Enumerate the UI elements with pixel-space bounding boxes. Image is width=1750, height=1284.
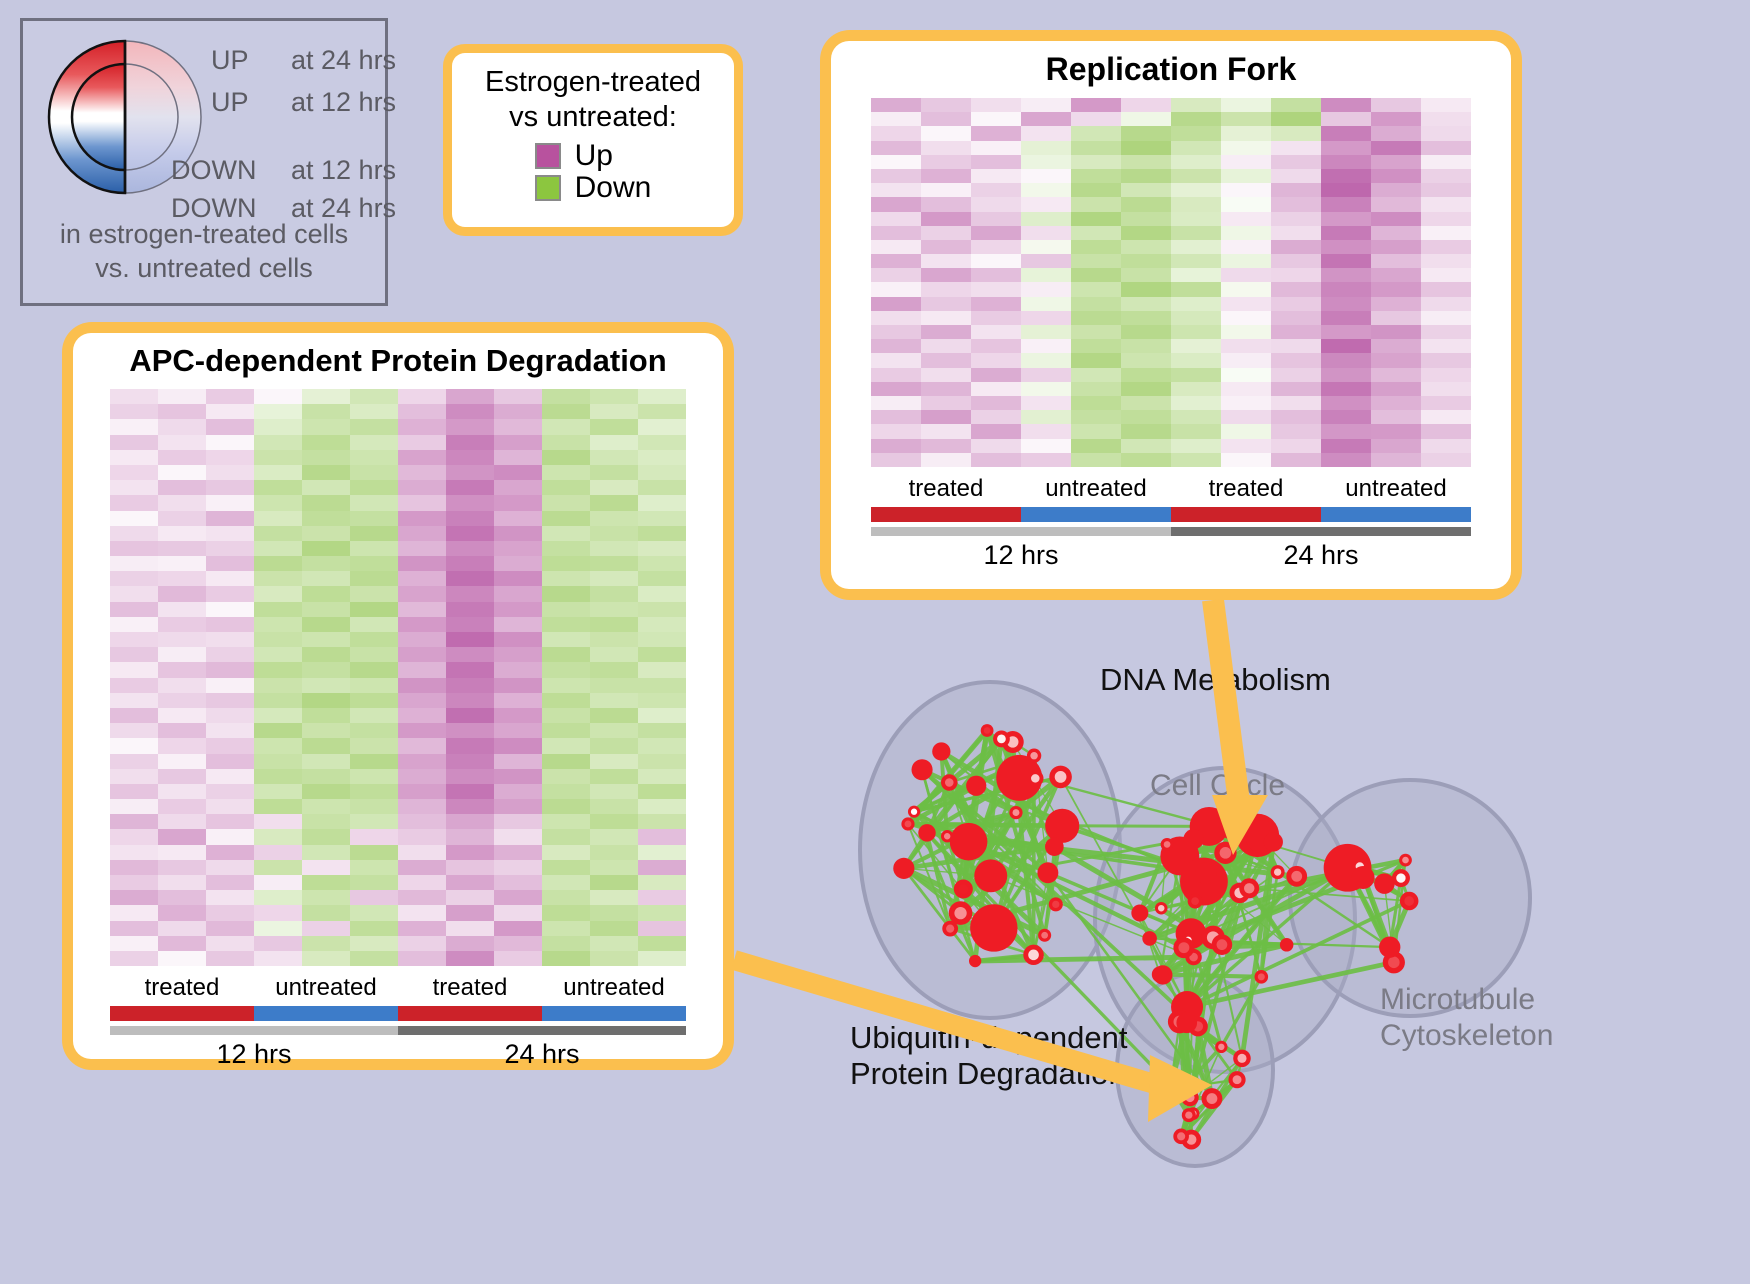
heatmap-cell	[1221, 282, 1271, 296]
heatmap-cell	[350, 738, 398, 753]
heatmap-cell	[1171, 254, 1221, 268]
heatmap-cell	[1021, 141, 1071, 155]
heatmap-cell	[971, 282, 1021, 296]
heatmap-cell	[1421, 424, 1471, 438]
heatmap-cell	[542, 404, 590, 419]
heatmap-cell	[638, 921, 686, 936]
heatmap-cell	[971, 169, 1021, 183]
heatmap-cell	[494, 860, 542, 875]
heatmap-cell	[206, 860, 254, 875]
heatmap-cell	[542, 495, 590, 510]
heatmap-cell	[350, 890, 398, 905]
heatmap-cell	[398, 738, 446, 753]
heatmap-cell	[446, 465, 494, 480]
heatmap-cell	[398, 586, 446, 601]
column-group-label: treated	[871, 475, 1021, 503]
heatmap-cell	[1021, 282, 1071, 296]
heatmap-cell	[398, 860, 446, 875]
heatmap-cell	[638, 632, 686, 647]
heatmap-cell	[1421, 254, 1471, 268]
network-node	[1379, 936, 1400, 957]
heatmap-cell	[158, 829, 206, 844]
heatmap-cell	[1371, 98, 1421, 112]
heatmap-cell	[971, 311, 1021, 325]
heatmap-cell	[158, 905, 206, 920]
heatmap-cell	[1071, 197, 1121, 211]
heatmap-cell	[302, 784, 350, 799]
heatmap-cell	[158, 693, 206, 708]
treatment-colour-segment	[871, 507, 1021, 522]
network-node	[970, 904, 1017, 951]
heatmap-cell	[446, 799, 494, 814]
heatmap-cell	[446, 890, 494, 905]
network-node-core	[1244, 883, 1254, 893]
heatmap-cell	[446, 693, 494, 708]
heatmap-cell	[921, 197, 971, 211]
heatmap-cell	[494, 678, 542, 693]
heatmap-cell	[350, 541, 398, 556]
heatmap-cell	[871, 197, 921, 211]
heatmap-cell	[206, 951, 254, 966]
heatmap-cell	[158, 435, 206, 450]
heatmap-cell	[446, 495, 494, 510]
heatmap-cell	[1071, 268, 1121, 282]
heatmap-cell	[1071, 112, 1121, 126]
column-group-label: treated	[1171, 475, 1321, 503]
heatmap-cell	[350, 647, 398, 662]
heatmap-cell	[638, 435, 686, 450]
heatmap-cell	[638, 617, 686, 632]
heatmap-cell	[1071, 155, 1121, 169]
heatmap-cell	[254, 586, 302, 601]
heatmap-cell	[1021, 325, 1071, 339]
network-node	[912, 759, 933, 780]
heatmap-cell	[446, 921, 494, 936]
heatmap-cell	[158, 632, 206, 647]
heatmap-cell	[110, 829, 158, 844]
heatmap-cell	[494, 905, 542, 920]
heatmap-cell	[921, 183, 971, 197]
heatmap-cell	[302, 845, 350, 860]
heatmap-cell	[921, 240, 971, 254]
heatmap-cell	[398, 754, 446, 769]
heatmap-cell	[206, 754, 254, 769]
heatmap-cell	[1271, 311, 1321, 325]
heatmap-cell	[590, 890, 638, 905]
network-node-core	[958, 884, 968, 894]
network-edge	[1160, 974, 1261, 976]
heatmap-cell	[254, 602, 302, 617]
heatmap-cell	[254, 526, 302, 541]
heatmap-cell	[1021, 410, 1071, 424]
heatmap-cell	[590, 951, 638, 966]
heatmap-cell	[971, 396, 1021, 410]
heatmap-cell	[110, 678, 158, 693]
heatmap-cell	[302, 419, 350, 434]
heatmap-cell	[350, 769, 398, 784]
heatmap-cell	[638, 738, 686, 753]
heatmap-cell	[542, 905, 590, 920]
heatmap-cell	[971, 254, 1021, 268]
heatmap-cell	[1021, 126, 1071, 140]
network-node-core	[1388, 957, 1400, 969]
heatmap-cell	[1021, 226, 1071, 240]
heatmap-cell	[1221, 453, 1271, 467]
heatmap-cell	[1371, 169, 1421, 183]
network-node	[918, 824, 935, 841]
heatmap-cell	[350, 678, 398, 693]
heatmap-cell	[1071, 126, 1121, 140]
heatmap-cell	[1171, 353, 1221, 367]
heatmap-cell	[302, 647, 350, 662]
heatmap-cell	[446, 769, 494, 784]
heatmap-cell	[350, 435, 398, 450]
heatmap-cell	[1221, 169, 1271, 183]
heatmap-cell	[971, 297, 1021, 311]
heatmap-cell	[1271, 169, 1321, 183]
heatmap-cell	[638, 799, 686, 814]
heatmap-cell	[542, 845, 590, 860]
heatmap-cell	[110, 404, 158, 419]
heatmap-cell	[1271, 226, 1321, 240]
heatmap-cell	[542, 450, 590, 465]
heatmap-cell	[254, 617, 302, 632]
heatmap-cell	[1321, 453, 1371, 467]
heatmap-cell	[921, 254, 971, 268]
heatmap-cell	[206, 389, 254, 404]
heatmap-cell	[398, 905, 446, 920]
heatmap-cell	[921, 169, 971, 183]
wheel-footer-line1: in estrogen-treated cells	[23, 217, 385, 251]
heatmap-cell	[110, 586, 158, 601]
heatmap-cell	[1171, 197, 1221, 211]
heatmap-cell	[638, 602, 686, 617]
heatmap-cell	[494, 662, 542, 677]
heatmap-cell	[638, 419, 686, 434]
heatmap-cell	[110, 435, 158, 450]
heatmap-cell	[638, 511, 686, 526]
heatmap-cell	[158, 678, 206, 693]
heatmap-cell	[1321, 410, 1371, 424]
heatmap-cell	[1371, 410, 1421, 424]
network-node-core	[1028, 950, 1039, 961]
column-group-label: untreated	[254, 974, 398, 1002]
heatmap-cell	[590, 784, 638, 799]
heatmap-cell	[350, 951, 398, 966]
heatmap-cell	[1071, 410, 1121, 424]
heatmap-cell	[590, 723, 638, 738]
heatmap-cell	[1321, 126, 1371, 140]
network-node	[966, 776, 986, 796]
heatmap-cell	[590, 526, 638, 541]
heatmap-cell	[1221, 268, 1271, 282]
heatmap-cell	[446, 754, 494, 769]
heatmap-cell	[110, 951, 158, 966]
heatmap-cell	[446, 404, 494, 419]
timepoint-colour-segment	[1171, 527, 1471, 536]
heatmap-cell	[398, 556, 446, 571]
heatmap-cell	[921, 98, 971, 112]
heatmap-cell	[1321, 353, 1371, 367]
heatmap-cell	[638, 860, 686, 875]
heatmap-cell	[302, 480, 350, 495]
heatmap-cell	[1171, 169, 1221, 183]
heatmap-cell	[446, 647, 494, 662]
heatmap-cell	[398, 708, 446, 723]
heatmap-cell	[158, 602, 206, 617]
heatmap-cell	[590, 875, 638, 890]
heatmap-cell	[1421, 197, 1471, 211]
heatmap-cell	[1421, 453, 1471, 467]
network-node-core	[1220, 847, 1232, 859]
heatmap-cell	[542, 586, 590, 601]
heatmap-cell	[1271, 297, 1321, 311]
network-node	[932, 742, 950, 760]
heatmap-cell	[398, 845, 446, 860]
heatmap-cell	[1071, 325, 1121, 339]
heatmap-cell	[1071, 339, 1121, 353]
heatmap-cell	[1121, 339, 1171, 353]
heatmap-cell	[1021, 98, 1071, 112]
heatmap-cell	[1371, 126, 1421, 140]
heatmap-cell	[638, 678, 686, 693]
wheel-row-0-label: UP	[211, 45, 249, 76]
heatmap-cell	[871, 212, 921, 226]
heatmap-cell	[871, 453, 921, 467]
heatmap-cell	[206, 769, 254, 784]
network-node-core	[1206, 1093, 1217, 1104]
heatmap-cell	[1321, 197, 1371, 211]
network-node	[974, 859, 1007, 892]
heatmap-cell	[1171, 453, 1221, 467]
heatmap-cell	[638, 526, 686, 541]
heatmap-cell	[542, 708, 590, 723]
heatmap-cell	[590, 617, 638, 632]
heatmap-cell	[1271, 141, 1321, 155]
heatmap-cell	[254, 769, 302, 784]
network-node-core	[1217, 939, 1228, 950]
heatmap-cell	[871, 98, 921, 112]
legend-item-down: Down	[535, 173, 652, 203]
heatmap-cell	[110, 495, 158, 510]
heatmap-cell	[302, 754, 350, 769]
heatmap-cell	[494, 723, 542, 738]
heatmap-cell	[110, 465, 158, 480]
heatmap-cell	[254, 708, 302, 723]
heatmap-cell	[1421, 126, 1471, 140]
heatmap-cell	[971, 240, 1021, 254]
heatmap-cell	[302, 632, 350, 647]
heatmap-cell	[110, 738, 158, 753]
heatmap-cell	[1271, 353, 1321, 367]
heatmap-cell	[1371, 311, 1421, 325]
heatmap-cell	[398, 526, 446, 541]
heatmap-cell	[494, 829, 542, 844]
heatmap-cell	[1221, 410, 1271, 424]
heatmap-cell	[1121, 98, 1171, 112]
heatmap-cell	[542, 526, 590, 541]
heatmap-cell	[254, 799, 302, 814]
heatmap-cell	[542, 723, 590, 738]
heatmap-cell	[158, 511, 206, 526]
heatmap-cell	[1071, 453, 1121, 467]
treatment-colour-segment	[1321, 507, 1471, 522]
heatmap-cell	[254, 495, 302, 510]
heatmap-cell	[590, 647, 638, 662]
heatmap-cell	[494, 450, 542, 465]
heatmap-cell	[921, 112, 971, 126]
heatmap-cell	[542, 617, 590, 632]
heatmap-cell	[871, 439, 921, 453]
heatmap-cell	[350, 829, 398, 844]
heatmap-cell	[1371, 424, 1421, 438]
heatmap-cell	[158, 784, 206, 799]
heatmap-cell	[158, 450, 206, 465]
heatmap-cell	[206, 556, 254, 571]
heatmap-cell	[494, 769, 542, 784]
heatmap-cell	[110, 860, 158, 875]
legend-label-down: Down	[575, 173, 652, 203]
heatmap-cell	[921, 325, 971, 339]
heatmap-cell	[494, 814, 542, 829]
network-node-core	[1237, 1054, 1246, 1063]
column-group-label: untreated	[1321, 475, 1471, 503]
heatmap-cell	[1171, 368, 1221, 382]
heatmap-cell	[971, 410, 1021, 424]
heatmap-cell	[1171, 282, 1221, 296]
wheel-row-2-label: DOWN	[171, 155, 256, 186]
heatmap-cell	[1121, 453, 1171, 467]
heatmap-cell	[254, 951, 302, 966]
wheel-row-1-time: at 12 hrs	[291, 87, 396, 118]
timepoint-colour-segment	[110, 1026, 398, 1035]
heatmap-cell	[398, 921, 446, 936]
heatmap-cell	[350, 419, 398, 434]
heatmap-cell	[590, 556, 638, 571]
heatmap-cell	[110, 784, 158, 799]
heatmap-cell	[1121, 254, 1171, 268]
heatmap-cell	[398, 799, 446, 814]
column-group-label: treated	[398, 974, 542, 1002]
heatmap-cell	[638, 754, 686, 769]
heatmap-cell	[302, 495, 350, 510]
heatmap-cell	[350, 586, 398, 601]
heatmap-cell	[542, 936, 590, 951]
heatmap-cell	[350, 556, 398, 571]
heatmap-cell	[1271, 254, 1321, 268]
heatmap-cell	[158, 389, 206, 404]
heatmap-cell	[350, 632, 398, 647]
heatmap-cell	[302, 890, 350, 905]
heatmap-cell	[1021, 112, 1071, 126]
heatmap-cell	[971, 141, 1021, 155]
heatmap-cell	[921, 297, 971, 311]
network-node-core	[997, 735, 1006, 744]
heatmap-cell	[1021, 339, 1071, 353]
up-colour-swatch	[535, 143, 561, 169]
heatmap-cell	[638, 890, 686, 905]
heatmap-cell	[1271, 98, 1321, 112]
heatmap-cell	[921, 155, 971, 169]
heatmap-cell	[398, 829, 446, 844]
heatmap-cell	[1321, 98, 1371, 112]
heatmap-cell	[254, 723, 302, 738]
heatmap-cell	[1021, 297, 1071, 311]
heatmap-cell	[110, 556, 158, 571]
heatmap-cell	[1071, 382, 1121, 396]
heatmap-cell	[158, 480, 206, 495]
heatmap-cell	[158, 921, 206, 936]
heatmap-cell	[110, 647, 158, 662]
heatmap-cell	[254, 556, 302, 571]
heatmap-cell	[302, 404, 350, 419]
heatmap-cell	[1221, 297, 1271, 311]
heatmap-cell	[1421, 311, 1471, 325]
heatmap-cell	[542, 875, 590, 890]
heatmap-cell	[1071, 282, 1121, 296]
heatmap-cell	[871, 155, 921, 169]
heatmap-cell	[446, 617, 494, 632]
network-node	[1352, 866, 1375, 889]
legend-label-up: Up	[575, 141, 613, 171]
heatmap-cell	[254, 845, 302, 860]
heatmap-cell	[921, 396, 971, 410]
heatmap-cell	[446, 708, 494, 723]
heatmap-cell	[110, 526, 158, 541]
heatmap-cell	[1121, 353, 1171, 367]
heatmap-cell	[254, 936, 302, 951]
heatmap-cell	[542, 541, 590, 556]
heatmap-cell	[590, 678, 638, 693]
heatmap-cell	[1221, 98, 1271, 112]
figure-canvas: UP at 24 hrs UP at 12 hrs DOWN at 12 hrs…	[0, 0, 1750, 1279]
heatmap-cell	[1371, 226, 1421, 240]
heatmap-cell	[638, 784, 686, 799]
heatmap-cell	[871, 396, 921, 410]
heatmap-cell	[110, 632, 158, 647]
heatmap-cell	[158, 419, 206, 434]
heatmap-cell	[1071, 396, 1121, 410]
heatmap-cell	[1121, 396, 1171, 410]
heatmap-cell	[1321, 268, 1371, 282]
heatmap-cell	[350, 921, 398, 936]
heatmap-cell	[1421, 155, 1471, 169]
heatmap-cell	[254, 875, 302, 890]
heatmap-cell	[302, 389, 350, 404]
network-node	[1037, 862, 1058, 883]
heatmap-cell	[1071, 297, 1121, 311]
legend-item-up: Up	[535, 141, 652, 171]
network-node-core	[1218, 1044, 1224, 1050]
network-node-core	[1402, 857, 1409, 864]
network-node-core	[1191, 897, 1199, 905]
heatmap-cell	[590, 571, 638, 586]
heatmap-cell	[446, 829, 494, 844]
heatmap-cell	[1321, 282, 1371, 296]
network-node	[1045, 809, 1079, 843]
timepoint-colour-segment	[871, 527, 1171, 536]
network-graph	[795, 620, 1750, 1279]
heatmap-cell	[638, 769, 686, 784]
heatmap-cell	[971, 197, 1021, 211]
heatmap-cell	[1221, 368, 1271, 382]
heatmap-cell	[1421, 141, 1471, 155]
heatmap-cell	[158, 526, 206, 541]
wheel-row-2-time: at 12 hrs	[291, 155, 396, 186]
network-node	[1374, 873, 1395, 894]
heatmap-cell	[1421, 368, 1471, 382]
heatmap-cell	[302, 450, 350, 465]
